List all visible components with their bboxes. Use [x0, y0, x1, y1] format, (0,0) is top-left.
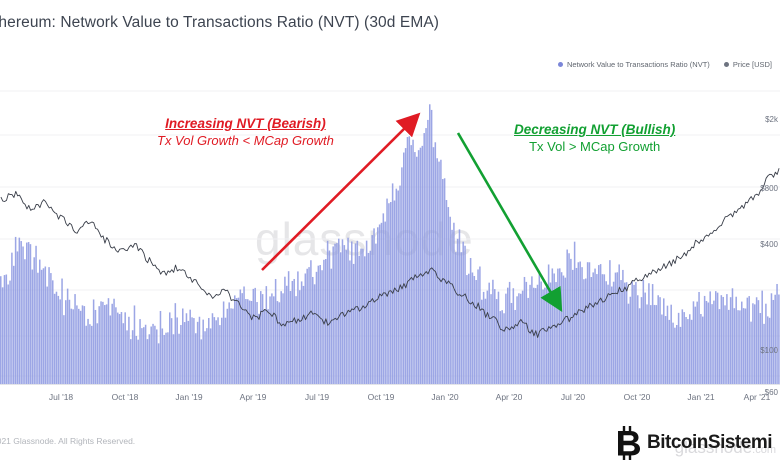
annotation-decreasing-nvt: Decreasing NVT (Bullish) Tx Vol > MCap G… — [514, 122, 675, 156]
x-tick-oct-18: Oct '18 — [112, 392, 139, 402]
x-tick-apr-20: Apr '20 — [496, 392, 523, 402]
x-tick-jan-19: Jan '19 — [175, 392, 202, 402]
x-tick-jul-20: Jul '20 — [561, 392, 585, 402]
bitcoinsistemi-logo[interactable]: BitcoinSistemi — [611, 424, 772, 462]
copyright-text: 2021 Glassnode. All Rights Reserved. — [0, 436, 135, 446]
legend-dot-icon — [558, 62, 563, 67]
x-tick-oct-20: Oct '20 — [624, 392, 651, 402]
legend-item-price[interactable]: Price [USD] — [724, 60, 772, 69]
legend-dot-icon — [724, 62, 729, 67]
x-tick-jan-20: Jan '20 — [431, 392, 458, 402]
y-right-tick-2k: $2k — [765, 115, 778, 124]
annotation-decreasing-nvt-line2: Tx Vol > MCap Growth — [514, 139, 675, 156]
legend-label-price: Price [USD] — [733, 60, 772, 69]
x-tick-jan-21: Jan '21 — [687, 392, 714, 402]
x-axis-line — [0, 384, 780, 385]
y-right-tick-400: $400 — [760, 240, 778, 249]
annotation-increasing-nvt-line1: Increasing NVT (Bearish) — [157, 116, 334, 133]
brand-name: BitcoinSistemi — [647, 432, 772, 454]
x-tick-jul-18: Jul '18 — [49, 392, 73, 402]
x-tick-apr-19: Apr '19 — [240, 392, 267, 402]
annotation-increasing-nvt-line2: Tx Vol Growth < MCap Growth — [157, 133, 334, 150]
y-right-tick-100: $100 — [760, 346, 778, 355]
legend-label-nvt: Network Value to Transactions Ratio (NVT… — [567, 60, 710, 69]
legend-item-nvt[interactable]: Network Value to Transactions Ratio (NVT… — [558, 60, 710, 69]
x-tick-apr-21: Apr '21 — [744, 392, 771, 402]
x-tick-oct-19: Oct '19 — [368, 392, 395, 402]
y-right-tick-800: $800 — [760, 184, 778, 193]
bitcoin-icon — [611, 424, 645, 462]
annotation-decreasing-nvt-line1: Decreasing NVT (Bullish) — [514, 122, 675, 139]
x-tick-jul-19: Jul '19 — [305, 392, 329, 402]
annotation-increasing-nvt: Increasing NVT (Bearish) Tx Vol Growth <… — [157, 116, 334, 150]
chart-legend: Network Value to Transactions Ratio (NVT… — [558, 60, 772, 69]
chart-root: thereum: Network Value to Transactions R… — [0, 0, 780, 470]
page-title: thereum: Network Value to Transactions R… — [0, 14, 439, 32]
